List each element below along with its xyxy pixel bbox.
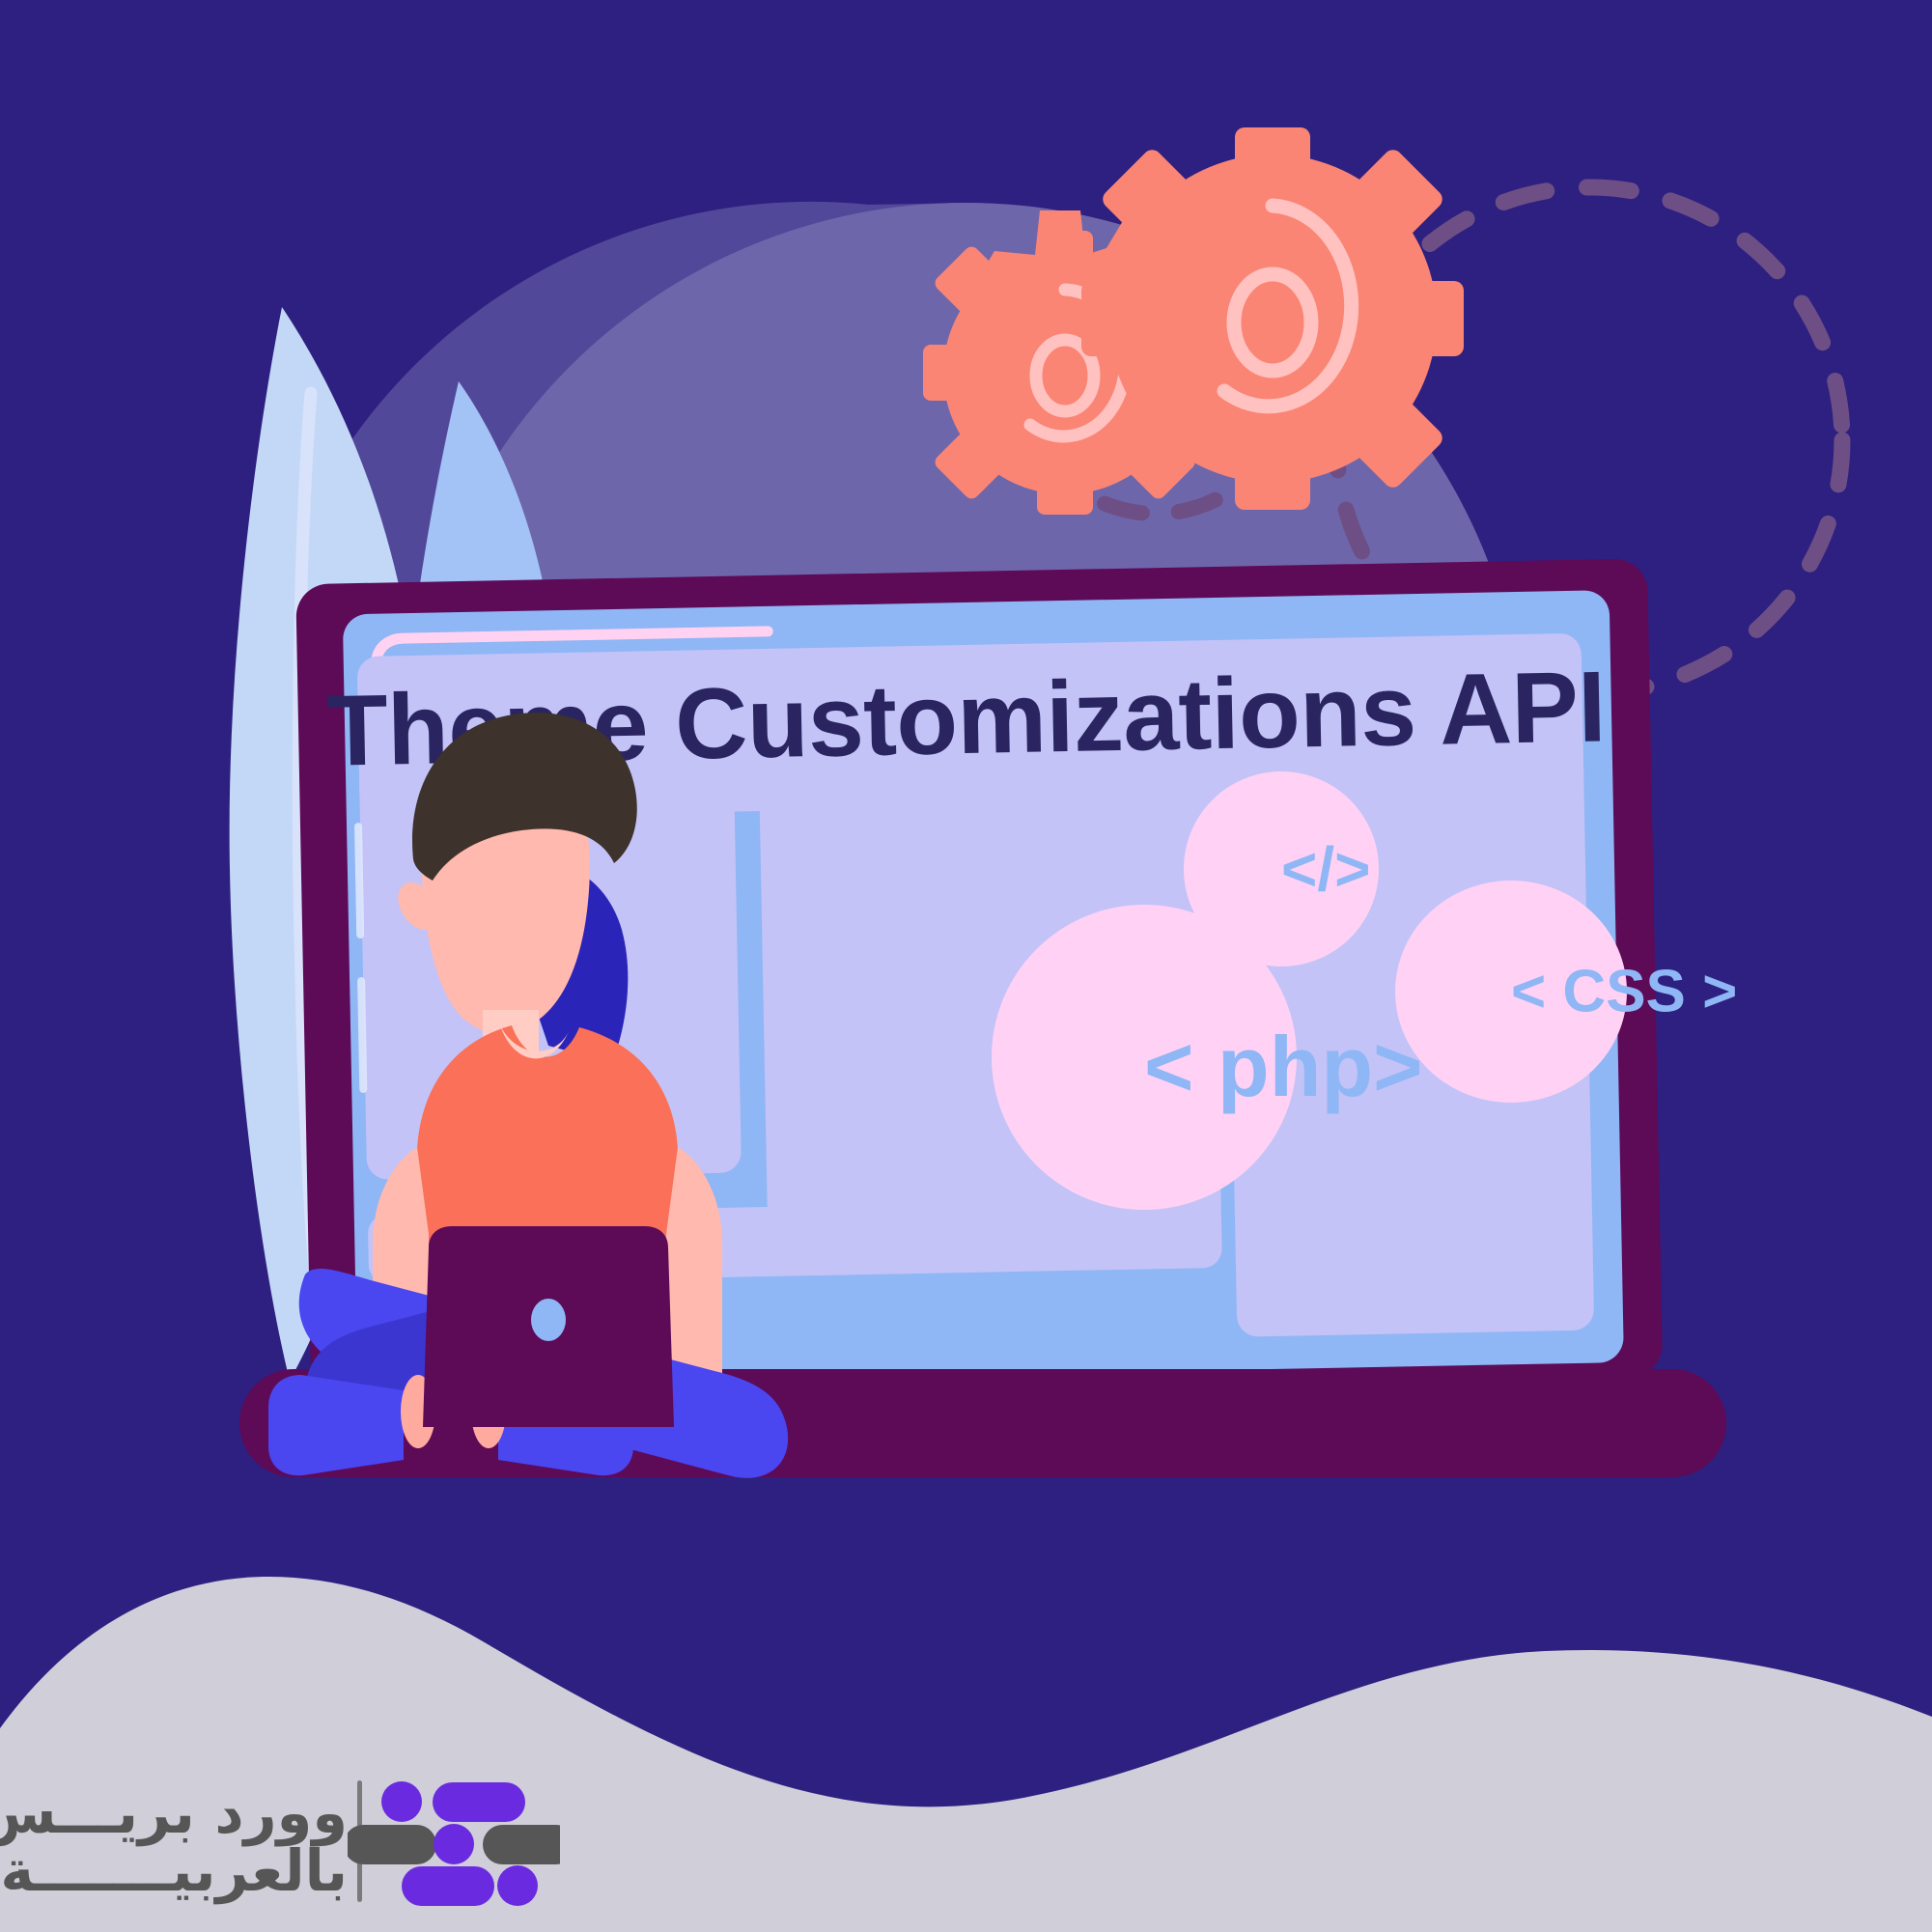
brand-wordmark: وورد بريـــس بالعربيـــــــة [58, 1784, 348, 1900]
brand-line-2: بالعربيـــــــة [58, 1842, 348, 1900]
logo-cell-1-0 [348, 1825, 436, 1864]
brand-logo-group [348, 1777, 560, 1912]
logo-cell-0-0 [381, 1781, 422, 1822]
logo-cell-2-0 [402, 1866, 494, 1906]
brand-line-1: وورد بريـــس [58, 1784, 348, 1842]
illustration-canvas: Theme Customizations API [0, 0, 1932, 1932]
footer-wave-layer [0, 0, 1932, 1932]
logo-cell-1-2 [483, 1825, 560, 1864]
logo-cell-0-1 [433, 1782, 525, 1822]
logo-cell-1-1 [434, 1824, 474, 1864]
wp-arabic-logo-mark [348, 1781, 560, 1906]
logo-cell-2-1 [497, 1865, 538, 1906]
